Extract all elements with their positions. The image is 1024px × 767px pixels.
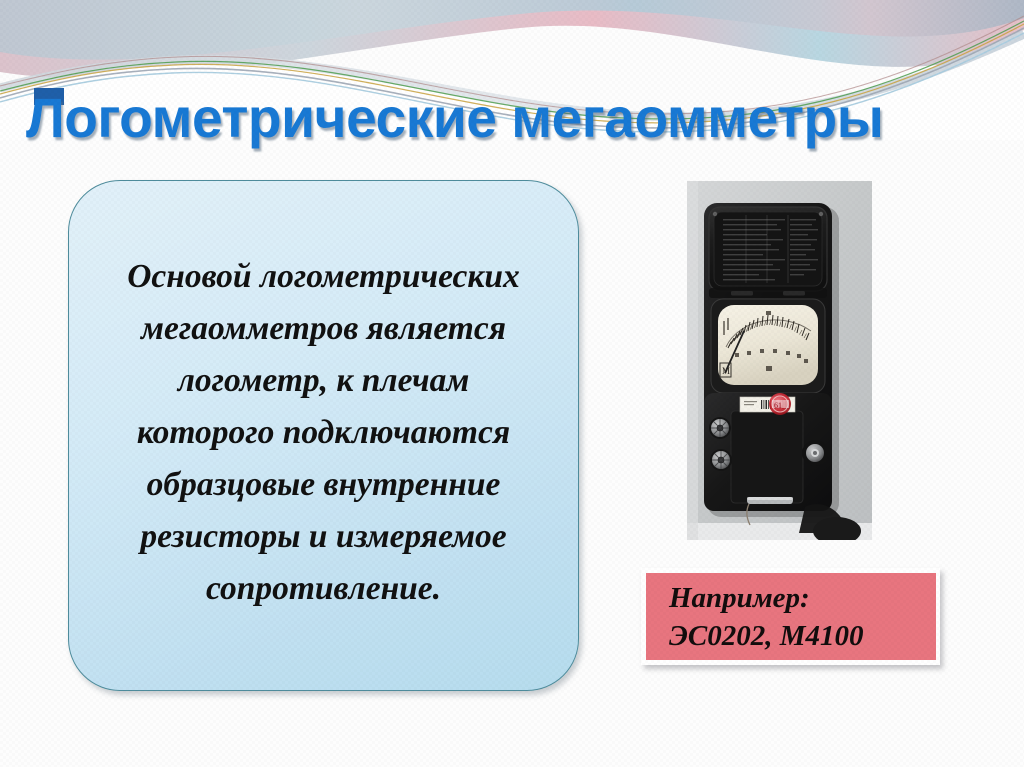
example-inner: Например: ЭС0202, М4100 — [646, 573, 936, 660]
svg-text:61: 61 — [774, 401, 782, 410]
content-text: Основой логометрических мегаомметров явл… — [109, 251, 539, 615]
page-title: Логометрические мегаомметры — [26, 86, 1001, 152]
svg-text:M: M — [722, 366, 730, 376]
example-line-2: ЭС0202, М4100 — [669, 617, 936, 655]
megohmmeter-photo: M 61 — [687, 181, 872, 540]
content-callout-box: Основой логометрических мегаомметров явл… — [68, 180, 579, 691]
example-callout-box: Например: ЭС0202, М4100 — [641, 568, 940, 665]
slide-canvas: Логометрические мегаомметры Основой лого… — [0, 0, 1024, 767]
example-line-1: Например: — [669, 579, 936, 617]
